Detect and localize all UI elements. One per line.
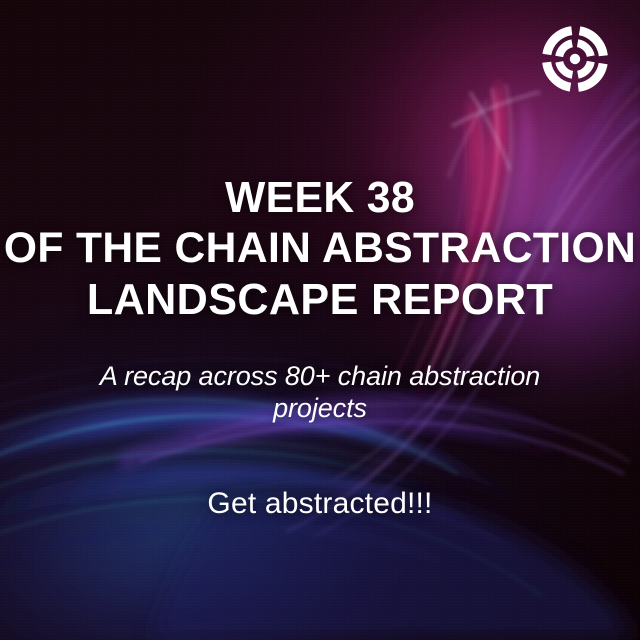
cta-text: Get abstracted!!! (0, 487, 640, 521)
subtitle: A recap across 80+ chain abstraction pro… (0, 360, 640, 424)
headline-line-3: LANDSCAPE REPORT (6, 274, 633, 325)
target-reticle-icon (541, 25, 609, 93)
headline-line-1: WEEK 38 (10, 172, 631, 223)
subtitle-text: A recap across 80+ chain abstraction pro… (60, 360, 580, 424)
brand-logo (541, 25, 609, 93)
headline-line-2: OF THE CHAIN ABSTRACTION (3, 223, 637, 274)
promo-poster: WEEK 38 OF THE CHAIN ABSTRACTION LANDSCA… (0, 0, 640, 640)
cta-label: Get abstracted!!! (207, 487, 432, 520)
page-title: WEEK 38 OF THE CHAIN ABSTRACTION LANDSCA… (0, 172, 640, 325)
